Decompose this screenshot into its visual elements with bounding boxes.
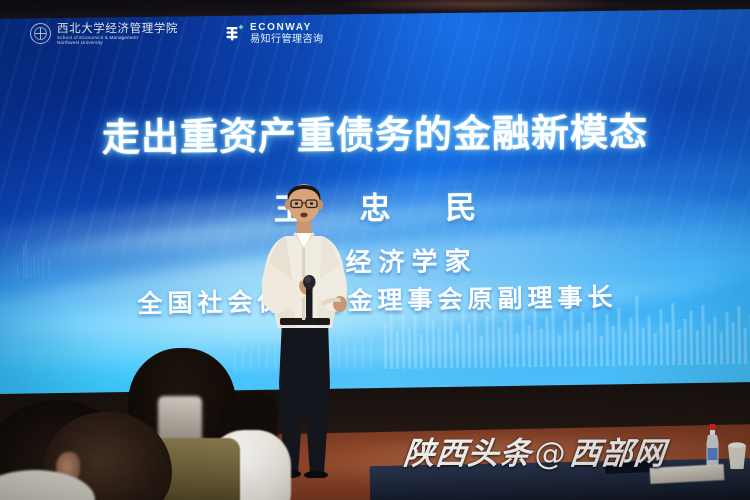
econway-logo: ECONWAY 易知行管理咨询 — [224, 22, 324, 44]
econway-name-cn: 易知行管理咨询 — [250, 34, 324, 45]
speaker-name: 王 忠 民 — [0, 179, 750, 232]
ceiling-light-glow — [330, 0, 630, 12]
watermark-site: 西部网 — [568, 436, 668, 472]
university-name-en-line2: Northwest University — [57, 40, 178, 45]
water-bottle — [704, 424, 721, 470]
university-emblem-icon — [30, 23, 51, 44]
screenshot-root: 西北大学经济管理学院 School of Economics & Managem… — [0, 0, 750, 500]
university-name-cn: 西北大学经济管理学院 — [57, 22, 178, 35]
presentation-title: 走出重资产重债务的金融新模态 — [0, 100, 750, 163]
watermark-source: 陕西头条 — [402, 436, 534, 472]
paper-cup — [726, 440, 748, 470]
econway-logo-icon — [224, 24, 244, 44]
university-logo: 西北大学经济管理学院 School of Economics & Managem… — [30, 22, 178, 45]
speaker-title-line-1: 著名经济学家 — [0, 238, 750, 283]
econway-name-en: ECONWAY — [250, 22, 324, 33]
watermark-separator: @ — [530, 436, 572, 472]
presentation-title-text: 走出重资产重债务的金融新模态 — [102, 110, 648, 160]
watermark: 陕西头条@西部网 — [402, 428, 669, 473]
screen-logo-bar: 西北大学经济管理学院 School of Economics & Managem… — [30, 22, 324, 45]
